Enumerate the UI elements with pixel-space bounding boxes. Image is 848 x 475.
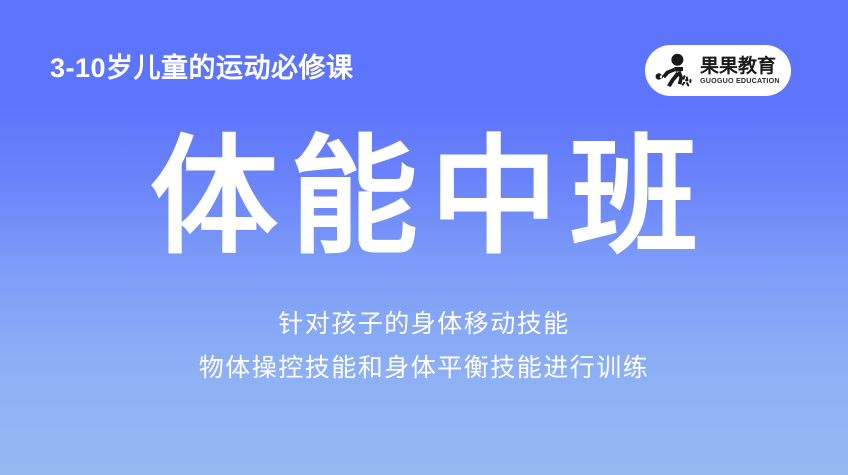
running-person-icon (655, 51, 695, 91)
brand-logo: 果果教育 GUOGUO EDUCATION (645, 45, 791, 96)
banner-subtitle: 针对孩子的身体移动技能 物体操控技能和身体平衡技能进行训练 (0, 303, 848, 391)
brand-name-cn: 果果教育 (700, 57, 776, 76)
banner-tagline: 3-10岁儿童的运动必修课 (50, 53, 354, 84)
brand-text: 果果教育 GUOGUO EDUCATION (700, 57, 778, 85)
page-title: 体能中班 (0, 133, 848, 264)
subtitle-line-2: 物体操控技能和身体平衡技能进行训练 (0, 347, 848, 391)
brand-name-en: GUOGUO EDUCATION (700, 78, 780, 85)
subtitle-line-1: 针对孩子的身体移动技能 (0, 303, 848, 347)
course-promo-banner: 3-10岁儿童的运动必修课 (0, 0, 848, 475)
